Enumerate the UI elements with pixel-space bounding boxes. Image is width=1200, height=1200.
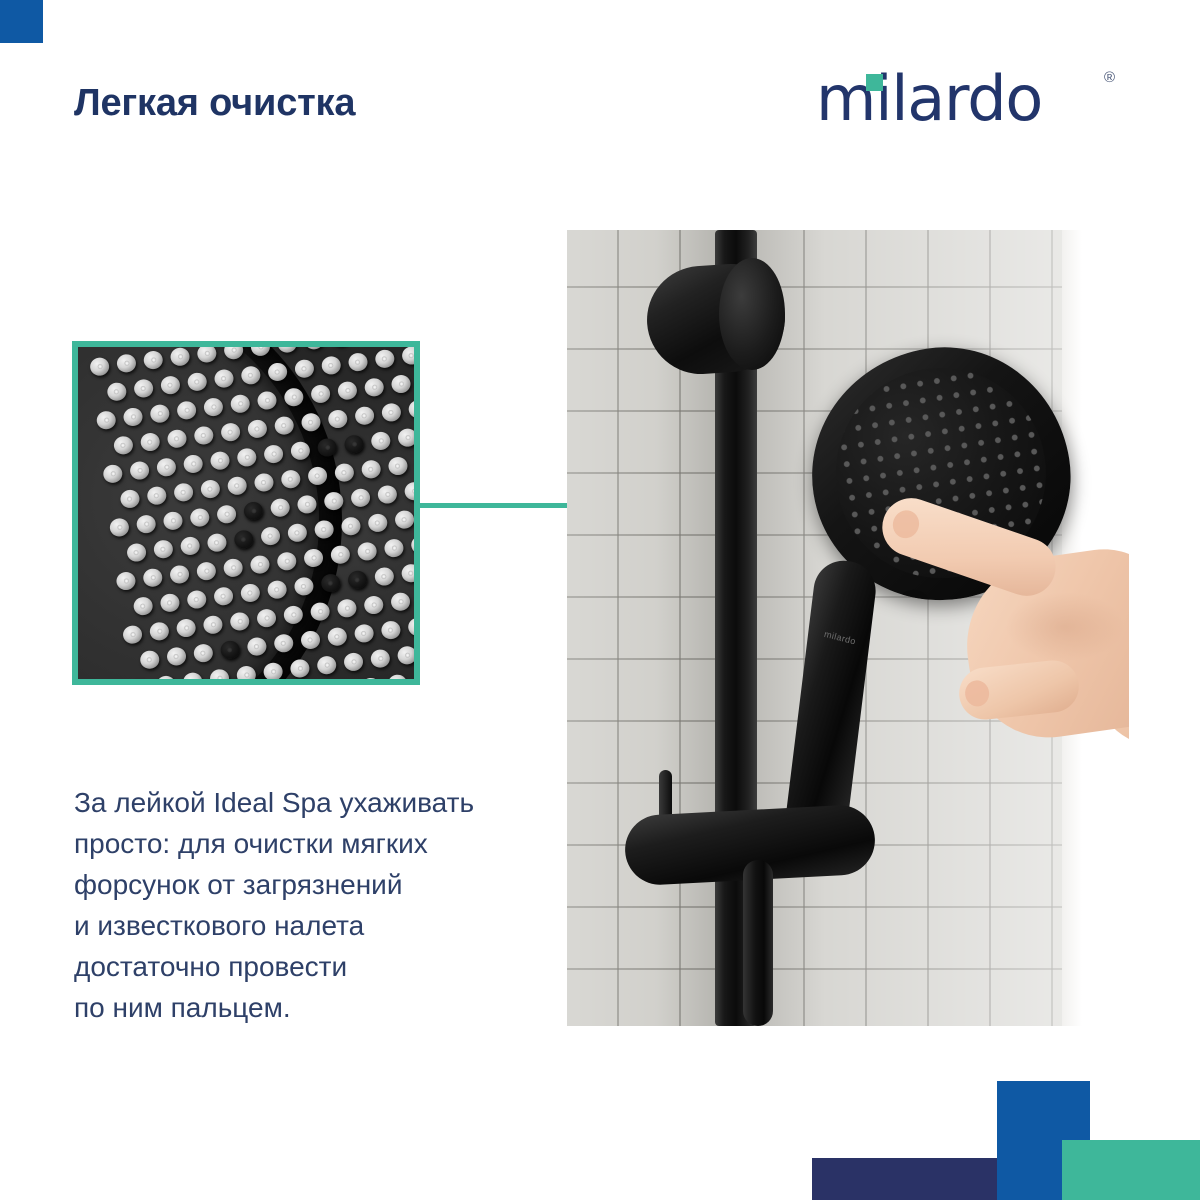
body-line: по ним пальцем. xyxy=(74,987,544,1028)
registered-trademark-icon: ® xyxy=(1104,70,1115,85)
pointing-hand xyxy=(855,482,1129,812)
body-line: и известкового налета xyxy=(74,905,544,946)
callout-image xyxy=(78,347,414,679)
knuckle-shading xyxy=(1005,592,1125,662)
brand-logo-text: milardo xyxy=(816,62,1042,136)
decoration-teal-square xyxy=(1062,1140,1200,1200)
milardo-i-dot-icon xyxy=(866,74,883,91)
top-wall-bracket-cap xyxy=(719,258,785,370)
nozzle-macro-callout xyxy=(72,341,420,685)
shower-hose xyxy=(743,860,773,1026)
corner-accent-square xyxy=(0,0,43,43)
nozzle-grid xyxy=(89,347,414,679)
body-line: достаточно провести xyxy=(74,946,544,987)
page-title: Легкая очистка xyxy=(74,82,355,125)
body-paragraph: За лейкой Ideal Spa ухаживать просто: дл… xyxy=(74,782,544,1028)
body-line: За лейкой Ideal Spa ухаживать xyxy=(74,782,544,823)
brand-logo: milardo ® xyxy=(816,62,1136,136)
infographic-page: Легкая очистка milardo ® milardo xyxy=(0,0,1200,1200)
index-finger xyxy=(874,490,1063,603)
product-photo: milardo xyxy=(567,230,1129,1026)
body-line: просто: для очистки мягких xyxy=(74,823,544,864)
body-line: форсунок от загрязнений xyxy=(74,864,544,905)
handle-brand-mark: milardo xyxy=(823,629,857,647)
